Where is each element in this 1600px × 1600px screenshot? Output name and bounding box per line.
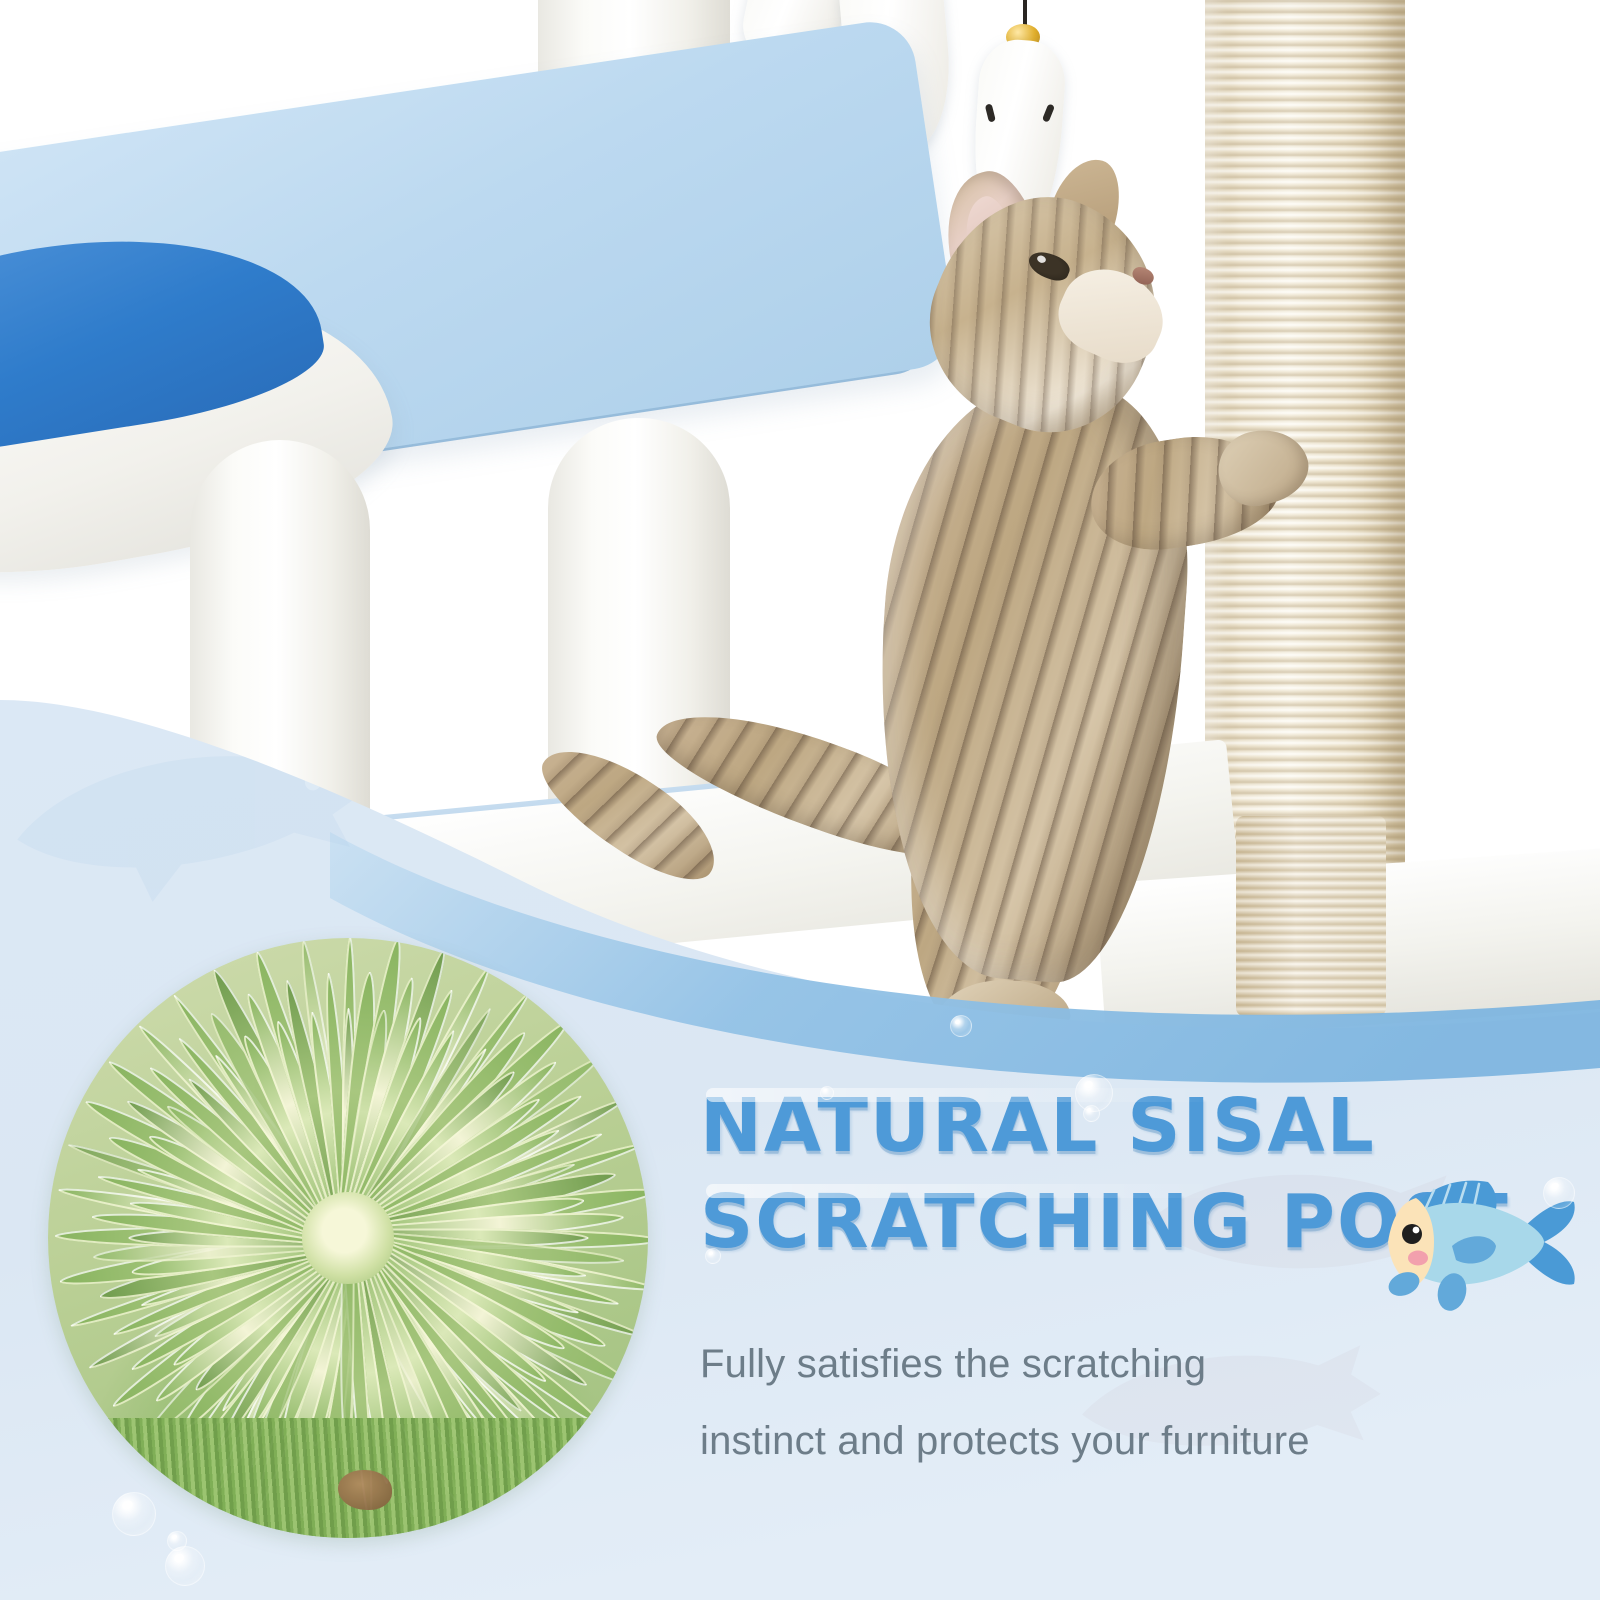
product-photo-scene — [0, 0, 1600, 1080]
sisal-plant-inset — [48, 938, 648, 1538]
fish-cheek — [1408, 1251, 1428, 1266]
agave-core — [302, 1192, 394, 1284]
plush-post-left — [190, 440, 370, 870]
bubble-1 — [950, 1015, 972, 1037]
bubble-9 — [820, 1086, 834, 1100]
body-line-2: instinct and protects your furniture — [700, 1403, 1570, 1480]
product-marketing-poster: NATURAL SISAL SCRATCHING POST Fully sati… — [0, 0, 1600, 1600]
bubble-8 — [705, 1248, 721, 1264]
tabby-kitten — [760, 180, 1300, 1060]
toy-fish-eye-right — [1042, 103, 1055, 122]
body-line-1: Fully satisfies the scratching — [700, 1326, 1570, 1403]
bubble-3 — [1083, 1105, 1100, 1122]
bubble-7 — [165, 1546, 205, 1586]
body-copy: Fully satisfies the scratching instinct … — [700, 1326, 1570, 1480]
fish-eye-highlight — [1413, 1227, 1420, 1234]
toy-fish-eye-left — [985, 103, 996, 122]
fish-eye — [1402, 1224, 1422, 1244]
bubble-4 — [1543, 1177, 1575, 1209]
bubble-5 — [112, 1492, 156, 1536]
